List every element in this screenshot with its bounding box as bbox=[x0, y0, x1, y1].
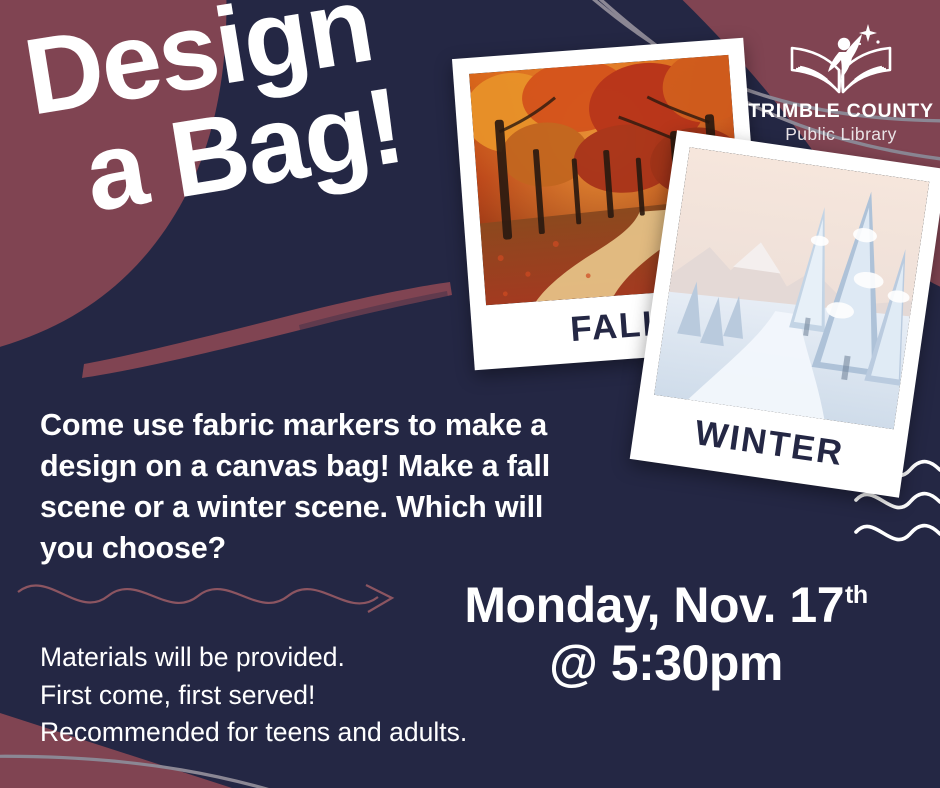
logo-org-name: TRIMBLE COUNTY bbox=[746, 100, 936, 123]
event-date: Monday, Nov. 17th bbox=[406, 566, 926, 634]
library-logo: TRIMBLE COUNTY Public Library bbox=[746, 22, 936, 145]
note-line-3: Recommended for teens and adults. bbox=[40, 714, 560, 752]
poster-canvas: Design a Bag! bbox=[0, 0, 940, 788]
note-line-1: Materials will be provided. bbox=[40, 639, 560, 677]
event-date-text: Monday, Nov. 17 bbox=[464, 577, 844, 633]
polaroid-winter: WINTER bbox=[630, 130, 940, 497]
body-description: Come use fabric markers to make a design… bbox=[40, 405, 600, 569]
open-book-with-star-figure-icon bbox=[782, 22, 900, 98]
note-line-2: First come, first served! bbox=[40, 677, 560, 715]
event-date-ordinal: th bbox=[845, 581, 868, 609]
footer-notes: Materials will be provided. First come, … bbox=[40, 639, 560, 752]
snowy-pine-forest-road-photo bbox=[654, 147, 929, 429]
logo-tagline: Public Library bbox=[746, 124, 936, 145]
